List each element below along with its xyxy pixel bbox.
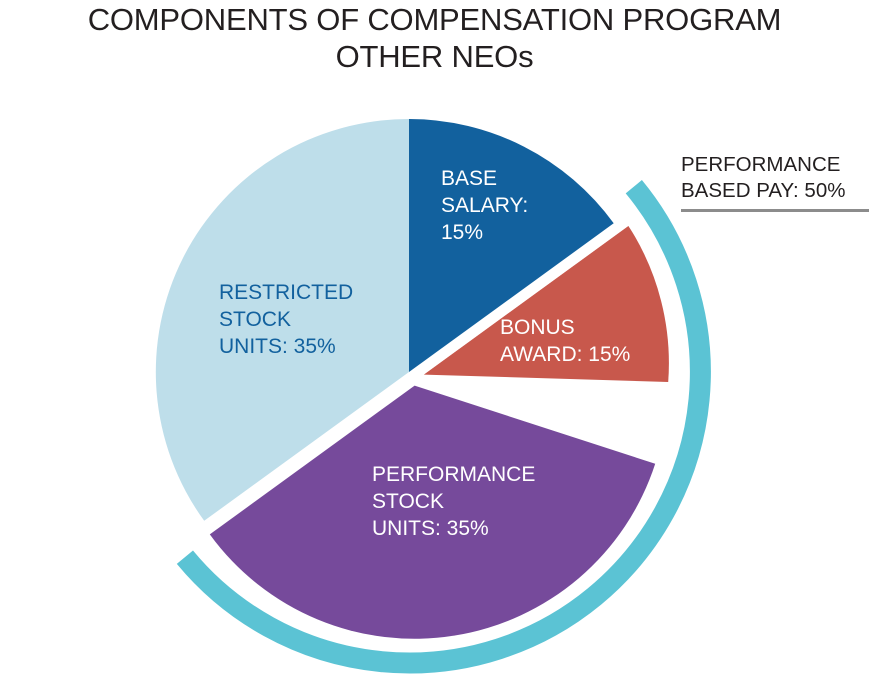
pie-graphic <box>0 0 869 677</box>
pie-label-base-salary: BASE SALARY: 15% <box>441 166 528 247</box>
performance-based-pay-callout: PERFORMANCE BASED PAY: 50% <box>681 152 869 204</box>
pie-chart-figure: COMPONENTS OF COMPENSATION PROGRAM OTHER… <box>0 0 869 677</box>
pie-label-restricted-stock-units: RESTRICTED STOCK UNITS: 35% <box>219 280 353 361</box>
pie-label-bonus-award: BONUS AWARD: 15% <box>500 315 630 369</box>
performance-based-pay-callout-text: PERFORMANCE BASED PAY: 50% <box>681 152 869 204</box>
performance-based-pay-callout-rule <box>681 209 869 212</box>
pie-label-performance-stock-units: PERFORMANCE STOCK UNITS: 35% <box>372 462 535 543</box>
